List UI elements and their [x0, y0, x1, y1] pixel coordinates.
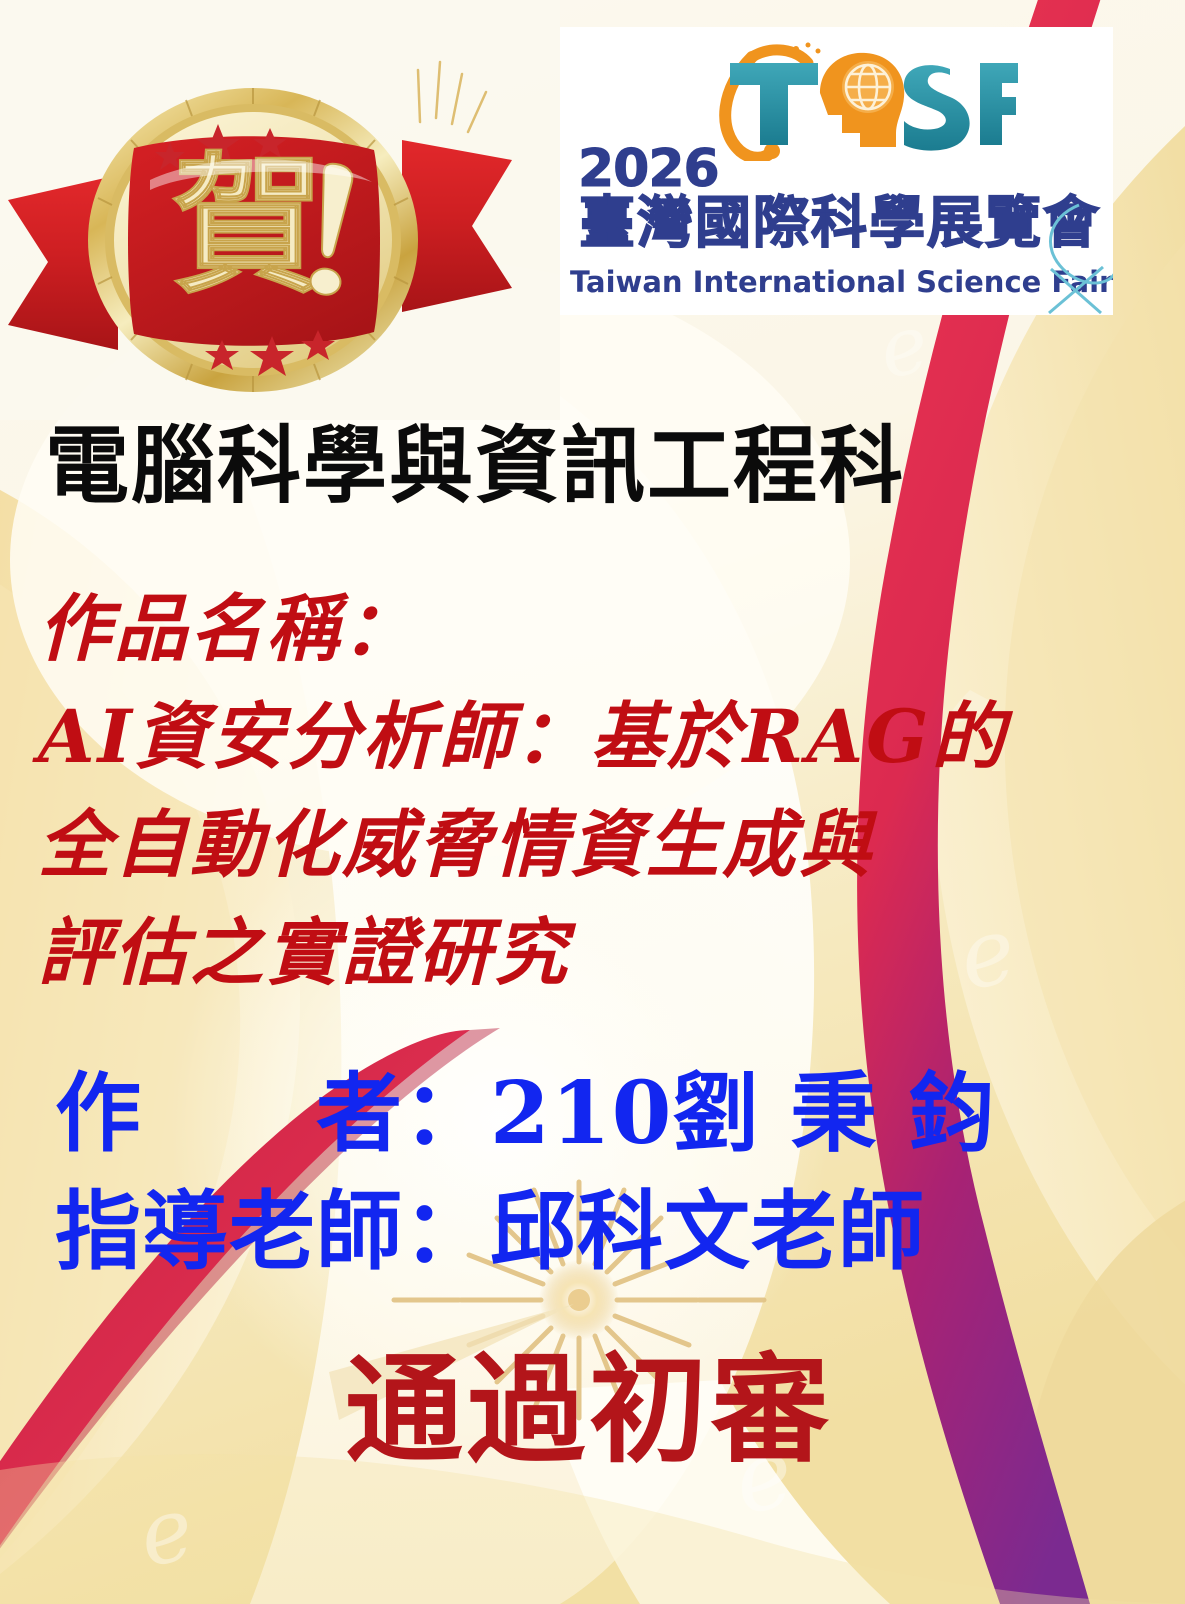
congratulations-poster: e e e e [0, 0, 1185, 1604]
work-title-line-2: 全自動化威脅情資生成與 [38, 791, 1118, 899]
department-title: 電腦科學與資訊工程科 [45, 418, 1105, 514]
work-title-line-3: 評估之實證研究 [38, 899, 1118, 1007]
people-block: 作 者：210劉 秉 鈞 指導老師：邱科文老師 [55, 1055, 1145, 1291]
congratulations-medal: 賀 [0, 40, 520, 400]
tisf-logo: 2026 [560, 27, 1113, 315]
work-title-block: 作品名稱： AI資安分析師：基於RAG的 全自動化威脅情資生成與 評估之實證研究 [38, 575, 1118, 1007]
author-line: 作 者：210劉 秉 鈞 [55, 1055, 1145, 1173]
logo-year: 2026 [578, 139, 719, 199]
teal-flourish-icon [997, 195, 1113, 315]
work-title-line-1: AI資安分析師：基於RAG的 [38, 683, 1118, 791]
work-label: 作品名稱： [38, 575, 1118, 683]
tisf-acronym-icon [700, 41, 1020, 161]
result-status: 通過初審 [345, 1345, 833, 1475]
advisor-line: 指導老師：邱科文老師 [55, 1173, 1145, 1291]
